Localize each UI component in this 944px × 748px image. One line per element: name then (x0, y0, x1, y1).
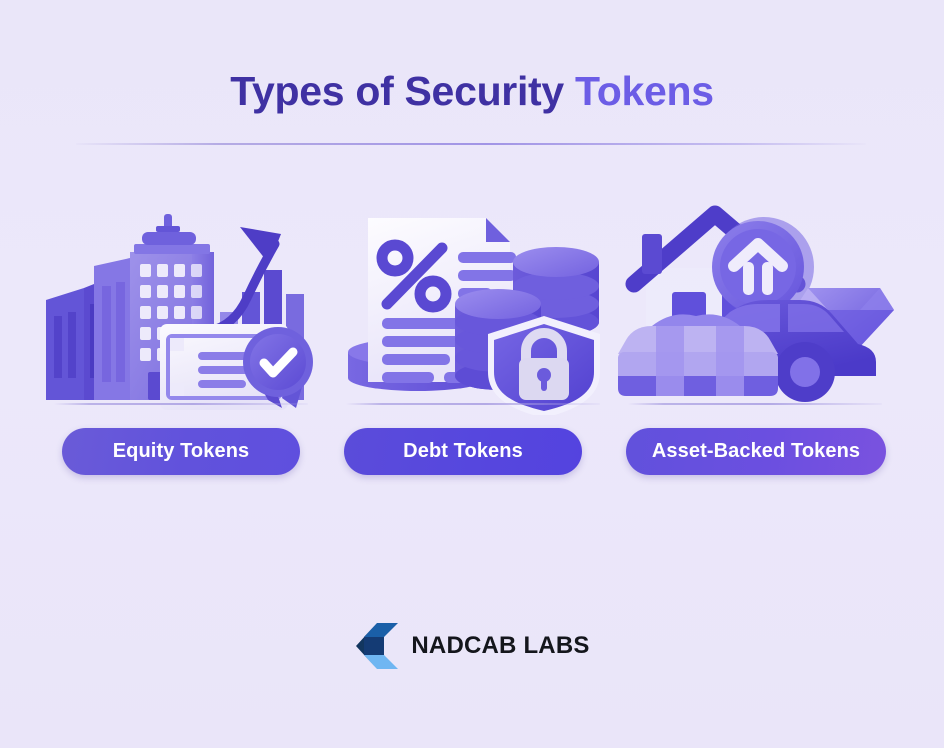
chimney-icon (642, 234, 662, 274)
title-divider (76, 143, 866, 145)
pill-label-text: Debt Tokens (403, 440, 523, 463)
growth-arrow-head-icon (240, 227, 281, 264)
ground-shadow-line (628, 403, 882, 405)
label-pill-asset-backed-tokens[interactable]: Asset-Backed Tokens (626, 428, 886, 475)
card-asset-backed-tokens: Asset-Backed Tokens (612, 200, 898, 490)
page-title: Types of Security Tokens (0, 64, 944, 118)
card-debt-tokens: Debt Tokens (330, 200, 616, 490)
ground-shadow-line (54, 403, 308, 405)
asset-backed-illustration (612, 200, 898, 415)
page-title-accent: Tokens (575, 68, 714, 114)
footer-branding: NADCAB LABS (0, 621, 944, 671)
pill-label-text: Equity Tokens (113, 440, 250, 463)
shield-lock-icon (488, 316, 600, 415)
nadcab-labs-chevron-logo-icon (354, 621, 400, 671)
equity-illustration (38, 200, 324, 415)
debt-illustration (330, 200, 616, 415)
pill-label-text: Asset-Backed Tokens (652, 440, 860, 463)
label-pill-debt-tokens[interactable]: Debt Tokens (344, 428, 582, 475)
label-pill-equity-tokens[interactable]: Equity Tokens (62, 428, 300, 475)
infographic-page: Types of Security Tokens (0, 0, 944, 748)
card-equity-tokens: Equity Tokens (38, 200, 324, 490)
ground-shadow-line (346, 403, 600, 405)
brand-name-text: NADCAB LABS (411, 632, 589, 660)
page-title-primary: Types of Security (230, 68, 575, 114)
